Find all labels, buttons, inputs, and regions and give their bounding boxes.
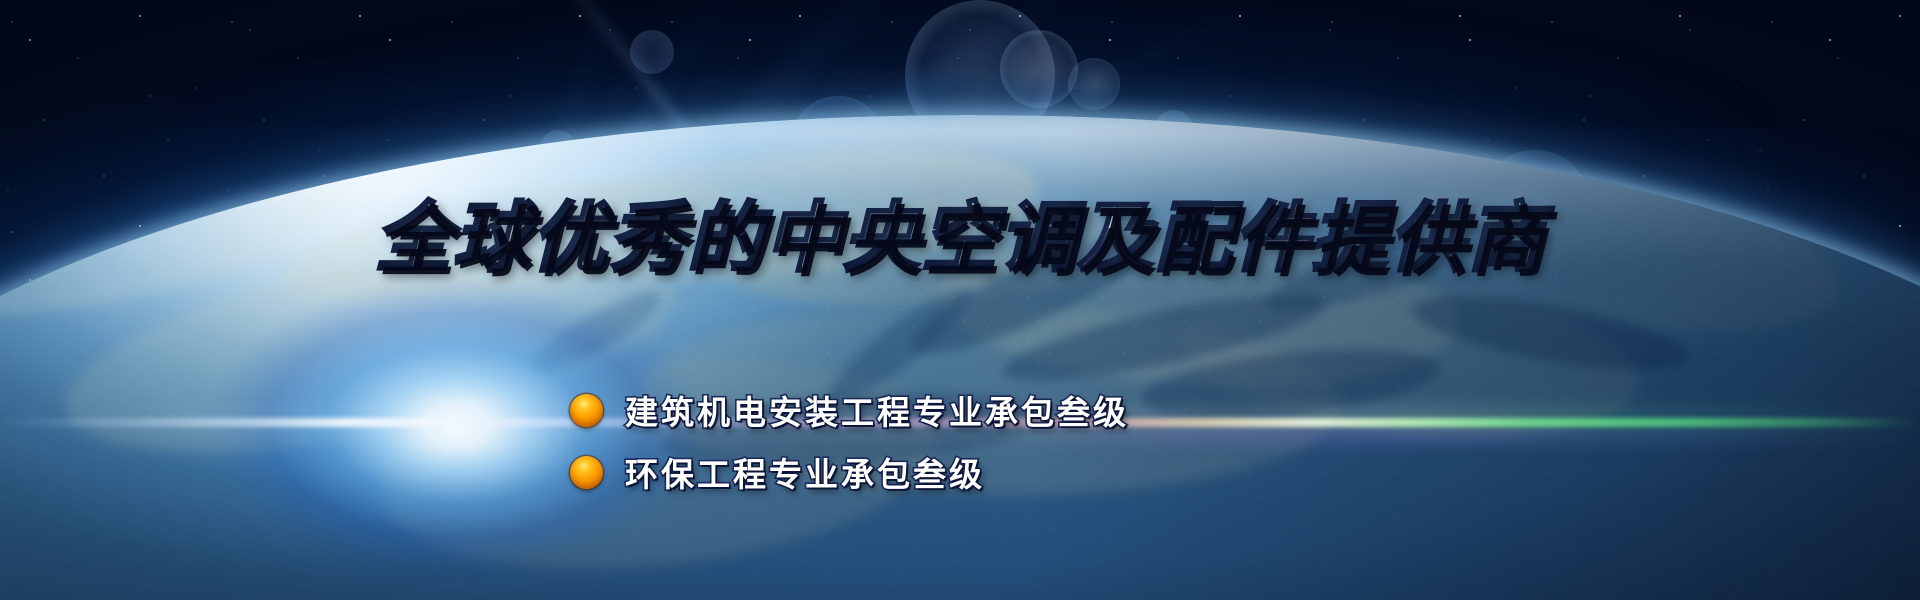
banner-bullet-list: 建筑机电安装工程专业承包叁级 环保工程专业承包叁级	[570, 383, 1129, 507]
banner-headline: 全球优秀的中央空调及配件提供商	[0, 200, 1920, 276]
orange-dot-icon	[570, 456, 603, 489]
bullet-item-label: 建筑机电安装工程专业承包叁级	[625, 386, 1129, 434]
bullet-item: 建筑机电安装工程专业承包叁级	[570, 383, 1129, 437]
bullet-item-label: 环保工程专业承包叁级	[625, 448, 985, 496]
bullet-item: 环保工程专业承包叁级	[570, 445, 1129, 499]
orange-dot-icon	[570, 394, 603, 427]
banner-content: 全球优秀的中央空调及配件提供商 建筑机电安装工程专业承包叁级 环保工程专业承包叁…	[0, 0, 1920, 600]
banner-headline-text: 全球优秀的中央空调及配件提供商	[375, 193, 1545, 282]
hero-banner: 全球优秀的中央空调及配件提供商 建筑机电安装工程专业承包叁级 环保工程专业承包叁…	[0, 0, 1920, 600]
